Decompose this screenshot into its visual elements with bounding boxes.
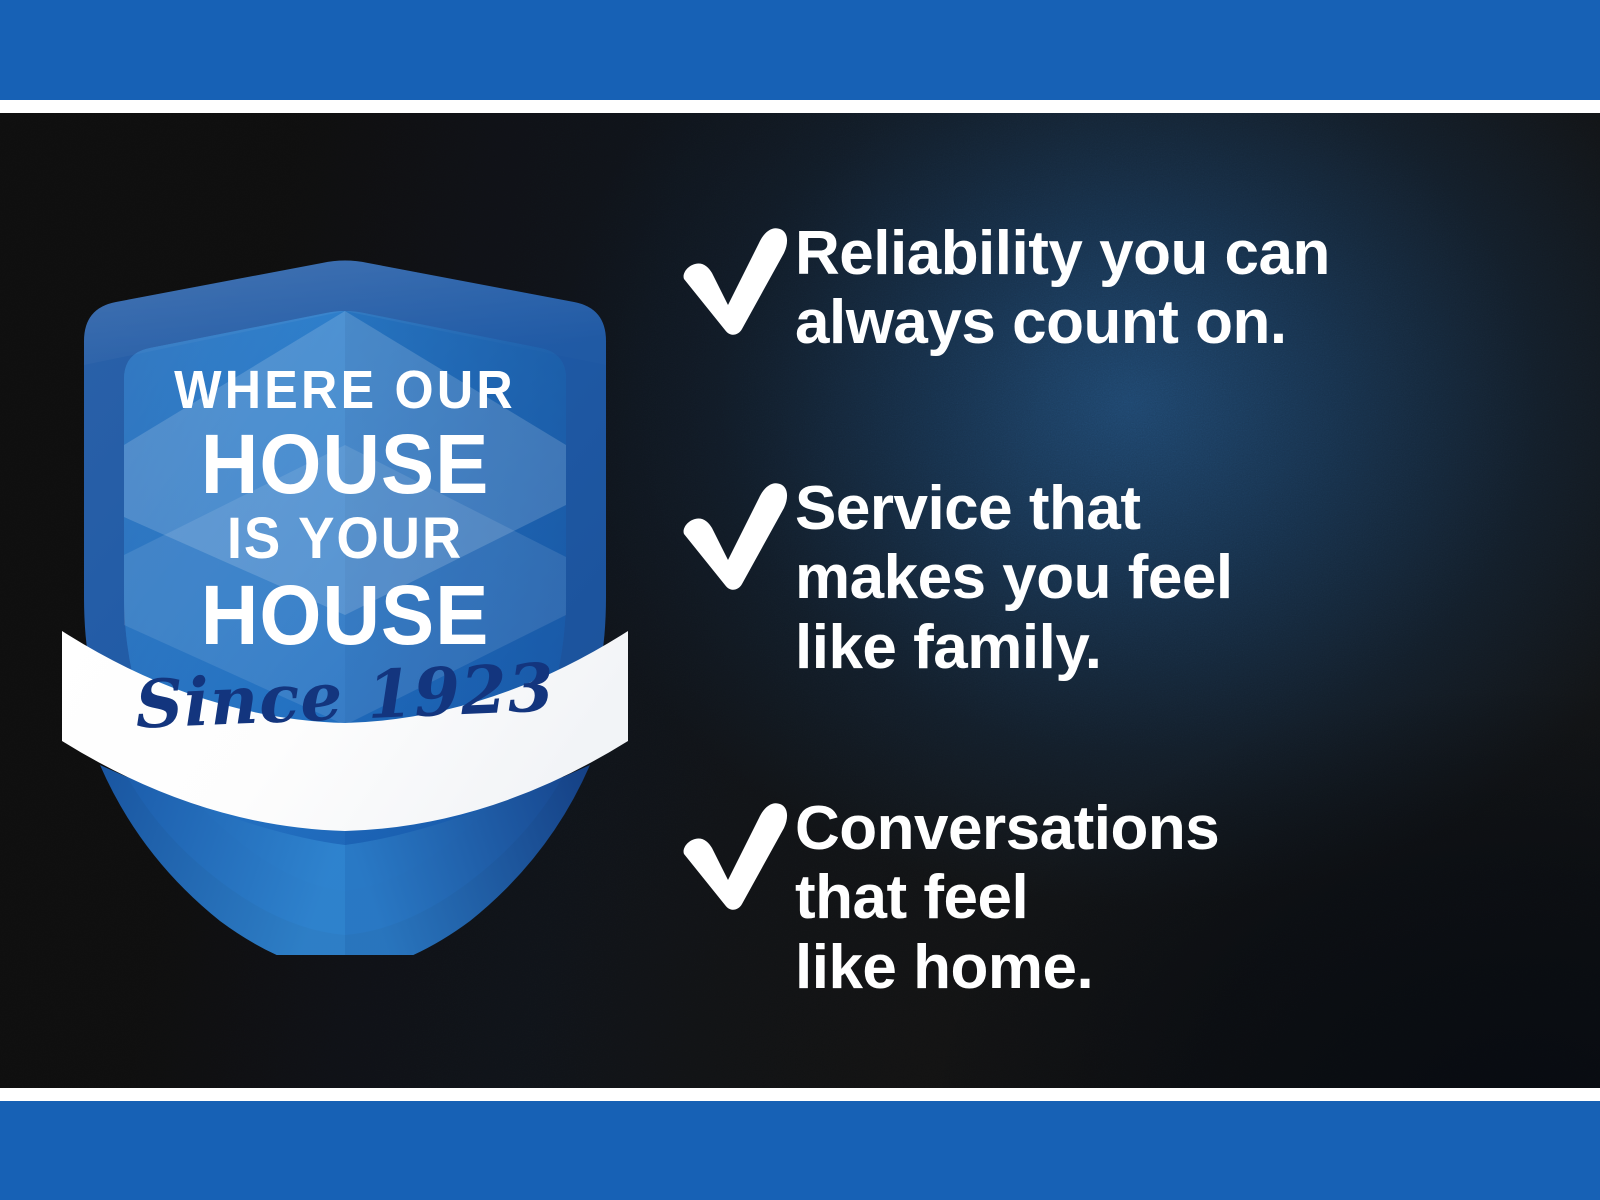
check-icon xyxy=(660,472,795,592)
top-brand-bar xyxy=(0,0,1600,100)
check-icon xyxy=(660,792,795,912)
shield-badge: Where our House is your House Since 1923 xyxy=(60,145,630,955)
claim-text: Reliability you can always count on. xyxy=(795,213,1330,358)
wordmark-line-4: House xyxy=(74,573,616,657)
check-icon xyxy=(660,217,795,337)
wordmark-line-1: Where our xyxy=(80,363,610,417)
claim-item: Conversations that feel like home. xyxy=(660,788,1219,1002)
top-divider xyxy=(0,100,1600,113)
claim-text: Conversations that feel like home. xyxy=(795,788,1219,1002)
claim-item: Reliability you can always count on. xyxy=(660,213,1330,358)
promo-graphic: Where our House is your House Since 1923… xyxy=(0,0,1600,1200)
claim-item: Service that makes you feel like family. xyxy=(660,468,1233,682)
claim-text: Service that makes you feel like family. xyxy=(795,468,1233,682)
claims-list: Reliability you can always count on. Ser… xyxy=(660,113,1560,1088)
wordmark-line-2: House xyxy=(74,422,616,506)
wordmark-line-3: is your xyxy=(77,510,613,568)
bottom-brand-bar xyxy=(0,1101,1600,1200)
bottom-divider xyxy=(0,1088,1600,1101)
